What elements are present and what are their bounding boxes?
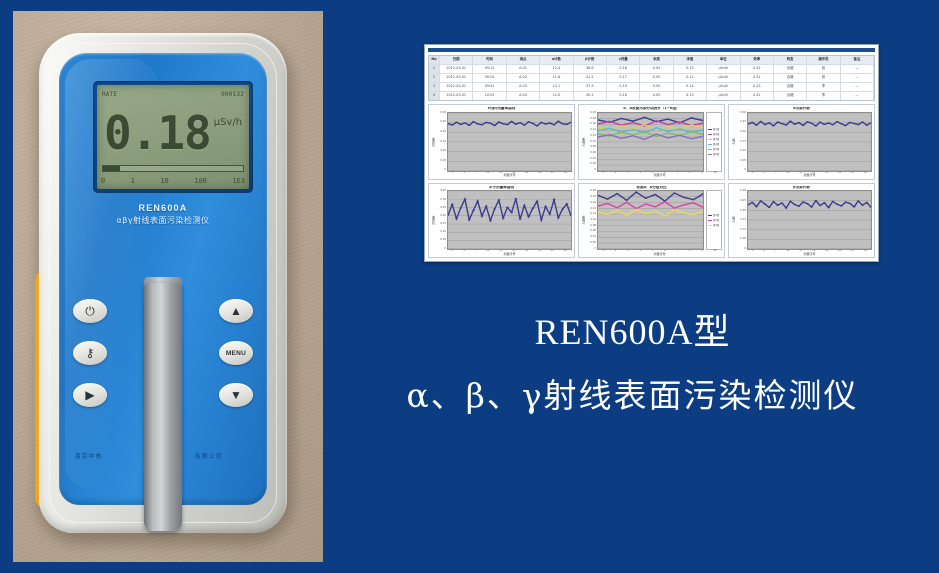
chart-data-point xyxy=(565,204,568,205)
chart-data-point xyxy=(789,121,792,122)
chart-y-tick: 0.25 xyxy=(736,121,746,124)
chart-data-point xyxy=(810,123,813,124)
arrow-up-icon: ▲ xyxy=(230,305,242,317)
chart-legend-label: 第2组 xyxy=(713,218,719,222)
chart-data-point xyxy=(819,205,822,206)
chart-y-tick: 0.02 xyxy=(586,242,596,245)
table-cell: 0.17 xyxy=(607,74,640,82)
chart-data-point xyxy=(848,122,851,123)
chart-legend-swatch xyxy=(708,144,712,146)
chart-data-point xyxy=(853,123,856,124)
chart-legend-label: 第6组 xyxy=(713,152,719,156)
chart-legend-label: 第3组 xyxy=(713,223,719,227)
chart-legend-swatch xyxy=(708,134,712,136)
chart-y-ticks: 0.200.180.160.140.120.100.080.060.040.02… xyxy=(586,190,597,250)
chart-y-axis-label: 剂量率 xyxy=(431,190,436,250)
table-cell: μSv/h xyxy=(707,74,740,82)
chart-title: β污染计数 xyxy=(731,186,872,190)
chart-data-point xyxy=(616,193,618,194)
chart-data-point xyxy=(502,123,505,124)
table-cell: 0.32 xyxy=(741,65,774,73)
table-header-cell: 本底 xyxy=(640,56,673,64)
arrow-down-icon: ▼ xyxy=(230,389,242,401)
table-cell: 0.05 xyxy=(640,83,673,91)
table-header-cell: 备注 xyxy=(841,56,874,64)
title-block: REN600A型 α、β、γ射线表面污染检测仪 xyxy=(330,312,935,418)
chart-y-tick: 0.04 xyxy=(586,158,596,161)
lcd-scale-tick: 100 xyxy=(194,177,207,185)
chart-data-point xyxy=(523,124,526,125)
chart-y-tick: 0.10 xyxy=(586,219,596,222)
chart-y-axis-label: 计数 xyxy=(731,190,736,250)
chart-data-point xyxy=(806,121,809,122)
chart-y-tick: 0.10 xyxy=(436,150,446,153)
report-screenshot: No日期时间测点α计数β计数γ剂量本底净值单位效率判定操作员备注12012-03… xyxy=(424,44,879,262)
chart-data-point xyxy=(840,123,843,124)
menu-button-label: MENU xyxy=(226,350,246,357)
chart-legend-swatch xyxy=(708,225,712,227)
chart-data-point xyxy=(553,124,556,125)
table-cell: 11.8 xyxy=(540,74,573,82)
chart-body: 计数0.300.250.200.150.100.050 xyxy=(731,190,872,250)
chart-x-axis-label: 测量序号 xyxy=(597,174,722,177)
chart-y-tick: 0.02 xyxy=(586,163,596,166)
chart-legend-label: 第3组 xyxy=(713,137,719,141)
chart-data-point xyxy=(772,201,775,202)
report-charts-grid: 环境γ剂量率曲线剂量率0.300.250.200.150.100.0501471… xyxy=(428,104,875,258)
lcd-scale-tick: 10 xyxy=(160,177,168,185)
chart-data-point xyxy=(561,123,564,124)
chart-data-point xyxy=(865,202,868,203)
chart-y-tick: 0.10 xyxy=(736,150,746,153)
chart-data-point xyxy=(692,215,694,216)
chart-y-tick: 0.20 xyxy=(736,131,746,134)
chart-data-point xyxy=(664,216,666,217)
chart-data-point xyxy=(759,201,762,202)
chart-data-point xyxy=(553,200,556,201)
chart-data-point xyxy=(540,122,543,123)
chart-body: 剂量率0.300.250.200.150.100.050 xyxy=(431,112,572,172)
chart-x-axis-label: 测量序号 xyxy=(747,253,872,256)
chart-y-ticks: 0.200.180.160.140.120.100.080.060.040.02… xyxy=(586,112,597,172)
table-cell: 0.33 xyxy=(741,83,774,91)
chart-card: 表面α、β分组对比计数率0.200.180.160.140.120.100.08… xyxy=(578,183,725,259)
table-cell: 10:03 xyxy=(473,92,506,100)
chart-data-point xyxy=(548,122,551,123)
chart-card: α污染计数计数0.300.250.200.150.100.05014710131… xyxy=(728,104,875,180)
chart-data-point xyxy=(502,218,505,219)
chart-data-point xyxy=(557,121,560,122)
chart-data-point xyxy=(531,123,534,124)
chart-data-point xyxy=(606,199,608,200)
chart-data-point xyxy=(853,207,856,208)
chart-data-point xyxy=(644,117,646,118)
chart-data-point xyxy=(827,122,830,123)
title-model-line: REN600A型 xyxy=(330,312,935,353)
chart-data-point xyxy=(815,200,818,201)
chart-data-point xyxy=(764,124,767,125)
power-icon: ⏻ xyxy=(85,305,95,317)
chart-data-point xyxy=(667,131,669,132)
chart-y-tick: 0.12 xyxy=(586,213,596,216)
chart-data-point xyxy=(664,202,666,203)
chart-data-point xyxy=(472,121,475,122)
table-row: 22012-03-0109:25A-0211.841.20.170.050.12… xyxy=(429,74,874,83)
chart-card: 环境γ剂量率曲线剂量率0.300.250.200.150.100.0501471… xyxy=(428,104,575,180)
table-cell: 张 xyxy=(807,65,840,73)
chart-data-point xyxy=(836,204,839,205)
chart-data-point xyxy=(655,136,657,137)
table-cell: 4 xyxy=(429,92,440,100)
chart-y-tick: 0.30 xyxy=(736,190,746,193)
chart-data-point xyxy=(667,126,669,127)
chart-plot-area xyxy=(747,112,872,172)
chart-legend-swatch xyxy=(708,149,712,151)
chart-y-tick: 0.20 xyxy=(436,131,446,134)
chart-data-point xyxy=(690,124,692,125)
chart-data-point xyxy=(755,124,758,125)
chart-data-point xyxy=(819,122,822,123)
down-button[interactable]: ▼ xyxy=(219,383,253,407)
up-button[interactable]: ▲ xyxy=(219,299,253,323)
chart-data-point xyxy=(836,121,839,122)
device-subtitle-label: αβγ射线表面污染检测仪 xyxy=(59,215,267,226)
chart-data-point xyxy=(692,203,694,204)
table-cell: — xyxy=(841,92,874,100)
chart-data-point xyxy=(772,125,775,126)
chart-data-point xyxy=(632,120,634,121)
chart-data-point xyxy=(844,202,847,203)
chart-data-point xyxy=(448,215,449,216)
chart-data-point xyxy=(667,137,669,138)
chart-data-point xyxy=(489,220,492,221)
chart-data-point xyxy=(857,201,860,202)
chart-data-point xyxy=(519,122,522,123)
lcd-scale-tick: 1 xyxy=(131,177,135,185)
chart-legend-item: 第1组 xyxy=(708,213,720,217)
chart-data-point xyxy=(831,124,834,125)
key-icon: ⚷ xyxy=(86,347,95,359)
chart-legend-item: 第2组 xyxy=(708,132,720,136)
chart-data-point xyxy=(632,135,634,136)
chart-body: 剂量率0.350.300.250.200.150.100.050 xyxy=(431,190,572,250)
table-header-cell: 测点 xyxy=(507,56,540,64)
chart-y-tick: 0 xyxy=(736,169,746,172)
chart-data-point xyxy=(861,121,864,122)
title-product-line: α、β、γ射线表面污染检测仪 xyxy=(330,375,935,418)
chart-data-point xyxy=(690,117,692,118)
chart-y-ticks: 0.350.300.250.200.150.100.050 xyxy=(436,190,447,250)
table-cell: μSv/h xyxy=(707,92,740,100)
table-header-cell: γ剂量 xyxy=(607,56,640,64)
chart-y-tick: 0.35 xyxy=(436,190,446,193)
table-header-cell: 日期 xyxy=(440,56,473,64)
chart-data-point xyxy=(515,198,518,199)
chart-y-tick: 0 xyxy=(436,248,446,251)
table-header-cell: 操作员 xyxy=(807,56,840,64)
table-cell: 0.13 xyxy=(674,65,707,73)
chart-data-point xyxy=(635,209,637,210)
chart-data-point xyxy=(857,124,860,125)
chart-data-point xyxy=(625,215,627,216)
chart-data-point xyxy=(655,133,657,134)
chart-y-tick: 0.15 xyxy=(436,141,446,144)
chart-data-point xyxy=(620,138,622,139)
table-cell: 2 xyxy=(429,74,440,82)
chart-data-point xyxy=(865,124,868,125)
chart-data-point xyxy=(827,207,830,208)
chart-data-point xyxy=(561,209,564,210)
lcd-status-right: 000132 xyxy=(221,91,244,98)
chart-data-point xyxy=(831,201,834,202)
chart-data-point xyxy=(548,214,551,215)
chart-legend-item: 第3组 xyxy=(708,137,720,141)
chart-data-point xyxy=(781,203,784,204)
table-cell: 37.9 xyxy=(574,83,607,91)
table-cell: 38.6 xyxy=(574,65,607,73)
chart-data-point xyxy=(451,124,454,125)
chart-data-point xyxy=(606,203,608,204)
chart-data-point xyxy=(644,124,646,125)
chart-data-point xyxy=(840,206,843,207)
chart-data-point xyxy=(476,123,479,124)
chart-data-point xyxy=(459,124,462,125)
chart-data-point xyxy=(527,121,530,122)
chart-data-point xyxy=(635,192,637,193)
chart-y-tick: 0.15 xyxy=(736,141,746,144)
table-header-cell: 时间 xyxy=(473,56,506,64)
chart-data-point xyxy=(759,121,762,122)
chart-y-tick: 0.25 xyxy=(436,207,446,210)
chart-data-point xyxy=(464,199,467,200)
chart-plot-area xyxy=(597,190,704,250)
chart-data-point xyxy=(620,125,622,126)
table-cell: 09:41 xyxy=(473,83,506,91)
table-row: 42012-03-0110:03A-0412.040.50.180.050.13… xyxy=(429,92,874,100)
chart-legend-item: 第4组 xyxy=(708,142,720,146)
chart-data-point xyxy=(459,208,462,209)
chart-data-point xyxy=(806,204,809,205)
key-button[interactable]: ⚷ xyxy=(73,341,107,365)
chart-y-tick: 0.20 xyxy=(586,112,596,115)
chart-data-point xyxy=(625,202,627,203)
table-cell: 合格 xyxy=(774,83,807,91)
chart-data-point xyxy=(570,215,571,216)
product-photo: RATE 000132 0.18 μSv/h 01101001E3 REN600… xyxy=(13,11,323,562)
chart-data-point xyxy=(848,203,851,204)
chart-y-tick: 0 xyxy=(586,169,596,172)
chart-data-point xyxy=(798,206,801,207)
chart-legend-swatch xyxy=(708,220,712,222)
chart-data-point xyxy=(798,122,801,123)
table-cell: 12.4 xyxy=(540,65,573,73)
chart-data-point xyxy=(683,197,685,198)
chart-plot-area xyxy=(747,190,872,250)
menu-button[interactable]: MENU xyxy=(219,341,253,365)
chart-x-axis-label: 测量序号 xyxy=(447,253,572,256)
table-header-row: No日期时间测点α计数β计数γ剂量本底净值单位效率判定操作员备注 xyxy=(429,56,874,65)
chart-series-line xyxy=(748,121,871,126)
power-button[interactable]: ⏻ xyxy=(73,299,107,323)
chart-y-tick: 0.14 xyxy=(586,208,596,211)
chart-y-axis-label: 计数率 xyxy=(581,190,586,250)
chart-data-point xyxy=(645,213,647,214)
table-cell: 2012-03-01 xyxy=(440,74,473,82)
table-header-cell: 净值 xyxy=(674,56,707,64)
chart-data-point xyxy=(616,208,618,209)
chart-data-point xyxy=(455,219,458,220)
chart-data-point xyxy=(625,200,627,201)
chart-y-tick: 0.06 xyxy=(586,152,596,155)
lcd-scale-tick: 0 xyxy=(101,177,105,185)
chart-data-point xyxy=(498,121,501,122)
chart-data-point xyxy=(768,122,771,123)
chart-data-point xyxy=(654,211,656,212)
chart-data-point xyxy=(481,216,484,217)
table-cell: 合格 xyxy=(774,65,807,73)
chart-data-point xyxy=(776,121,779,122)
table-cell: 2012-03-01 xyxy=(440,92,473,100)
chart-data-point xyxy=(692,199,694,200)
chart-data-point xyxy=(679,135,681,136)
chart-data-point xyxy=(768,207,771,208)
chart-y-axis-label: 剂量率 xyxy=(431,112,436,172)
table-cell: 0.13 xyxy=(674,92,707,100)
table-cell: 2012-03-01 xyxy=(440,65,473,73)
chart-data-point xyxy=(861,205,864,206)
chart-data-point xyxy=(785,124,788,125)
chart-data-point xyxy=(655,129,657,130)
chart-data-point xyxy=(802,125,805,126)
lcd-status-left: RATE xyxy=(102,91,117,98)
chart-data-point xyxy=(609,121,611,122)
chart-y-tick: 0.16 xyxy=(586,123,596,126)
chart-data-point xyxy=(468,220,471,221)
table-header-cell: β计数 xyxy=(574,56,607,64)
table-header-cell: 判定 xyxy=(774,56,807,64)
chart-legend-swatch xyxy=(708,154,712,156)
chart-y-tick: 0 xyxy=(436,169,446,172)
chart-data-point xyxy=(531,208,534,209)
chart-data-point xyxy=(644,139,646,140)
device-branding: REN600A αβγ射线表面污染检测仪 xyxy=(59,203,267,226)
chart-data-point xyxy=(515,123,518,124)
chart-data-point xyxy=(481,124,484,125)
chart-body: 计数率0.200.180.160.140.120.100.080.060.040… xyxy=(581,190,722,250)
chart-y-tick: 0.10 xyxy=(436,231,446,234)
table-cell: — xyxy=(841,65,874,73)
chart-y-tick: 0.08 xyxy=(586,146,596,149)
chart-data-point xyxy=(690,131,692,132)
chart-y-tick: 0.06 xyxy=(586,230,596,233)
chart-y-axis-label: 计数率 xyxy=(581,112,586,172)
chart-data-point xyxy=(464,122,467,123)
report-data-table: No日期时间测点α计数β计数γ剂量本底净值单位效率判定操作员备注12012-03… xyxy=(428,55,875,101)
chart-y-tick: 0.16 xyxy=(586,202,596,205)
table-cell: 3 xyxy=(429,83,440,91)
chart-y-tick: 0.08 xyxy=(586,225,596,228)
chart-y-ticks: 0.300.250.200.150.100.050 xyxy=(436,112,447,172)
chart-series-line xyxy=(448,121,571,126)
chart-legend: 第1组第2组第3组 xyxy=(706,190,722,250)
lcd-reading: 0.18 μSv/h xyxy=(97,103,249,163)
chart-data-point xyxy=(616,210,618,211)
chart-y-tick: 0.15 xyxy=(436,223,446,226)
chart-data-point xyxy=(667,124,669,125)
chart-legend-swatch xyxy=(708,139,712,141)
chart-legend-item: 第6组 xyxy=(708,152,720,156)
lcd-scale-tick: 1E3 xyxy=(232,177,245,185)
chart-data-point xyxy=(823,203,826,204)
chart-data-point xyxy=(645,198,647,199)
chart-data-point xyxy=(764,204,767,205)
chart-y-tick: 0.12 xyxy=(586,135,596,138)
chart-y-tick: 0.05 xyxy=(736,160,746,163)
chart-data-point xyxy=(683,213,685,214)
chart-data-point xyxy=(815,125,818,126)
chart-data-point xyxy=(844,125,847,126)
lcd-unit: μSv/h xyxy=(214,117,242,128)
chart-data-point xyxy=(667,118,669,119)
chart-y-tick: 0.30 xyxy=(736,112,746,115)
table-cell: 13.1 xyxy=(540,83,573,91)
table-row: 32012-03-0109:41A-0313.137.90.190.050.14… xyxy=(429,83,874,92)
table-cell: 0.31 xyxy=(741,74,774,82)
chart-y-tick: 0.25 xyxy=(736,200,746,203)
chart-data-point xyxy=(632,129,634,130)
chart-data-point xyxy=(609,134,611,135)
chart-y-ticks: 0.300.250.200.150.100.050 xyxy=(736,112,747,172)
play-icon: ▶ xyxy=(85,389,94,401)
table-cell: A-02 xyxy=(507,74,540,82)
chart-data-point xyxy=(468,125,471,126)
table-cell: 张 xyxy=(807,74,840,82)
chart-y-tick: 0.18 xyxy=(586,118,596,121)
chart-y-tick: 0.30 xyxy=(436,112,446,115)
lcd-bargraph xyxy=(102,165,244,172)
chart-data-point xyxy=(655,127,657,128)
table-cell: 40.5 xyxy=(574,92,607,100)
chart-y-tick: 0.10 xyxy=(736,229,746,232)
play-button[interactable]: ▶ xyxy=(73,383,107,407)
table-cell: 0.32 xyxy=(741,92,774,100)
chart-data-point xyxy=(620,132,622,133)
chart-data-point xyxy=(785,208,788,209)
handle-strap xyxy=(144,283,182,531)
chart-data-point xyxy=(506,207,509,208)
chart-legend: 第1组第2组第3组第4组第5组第6组 xyxy=(706,112,722,172)
chart-series-line xyxy=(748,201,871,208)
report-titlebar xyxy=(428,48,875,52)
chart-y-tick: 0.18 xyxy=(586,196,596,199)
chart-data-point xyxy=(536,201,539,202)
chart-data-point xyxy=(476,201,479,202)
table-row: 12012-03-0109:12A-0112.438.60.180.050.13… xyxy=(429,65,874,74)
chart-data-point xyxy=(536,125,539,126)
chart-legend-item: 第1组 xyxy=(708,127,720,131)
chart-x-axis-label: 测量序号 xyxy=(447,174,572,177)
chart-data-point xyxy=(523,205,526,206)
table-cell: 0.19 xyxy=(607,83,640,91)
chart-y-tick: 0.05 xyxy=(436,160,446,163)
chart-data-point xyxy=(751,122,754,123)
chart-data-point xyxy=(654,194,656,195)
table-cell: 0.14 xyxy=(674,83,707,91)
table-cell: 1 xyxy=(429,65,440,73)
chart-legend-item: 第2组 xyxy=(708,218,720,222)
chart-data-point xyxy=(606,214,608,215)
chart-legend-swatch xyxy=(708,215,712,217)
